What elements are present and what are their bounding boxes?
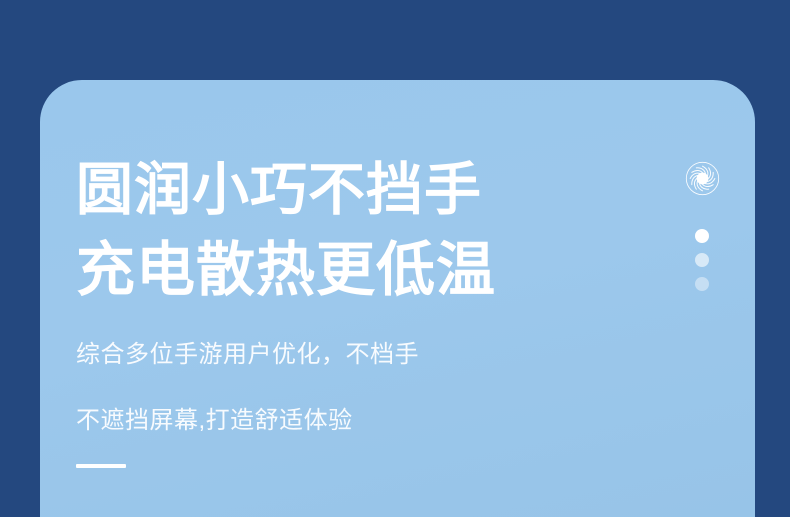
- subhead-line-2: 不遮挡屏幕,打造舒适体验: [76, 376, 596, 442]
- dot-stack[interactable]: [695, 229, 709, 291]
- headline-line-1: 圆润小巧不挡手: [76, 150, 596, 230]
- banner-stage: 圆润小巧不挡手 充电散热更低温 综合多位手游用户优化，不档手 不遮挡屏幕,打造舒…: [0, 0, 790, 517]
- divider-rule: [76, 464, 126, 468]
- feature-card: 圆润小巧不挡手 充电散热更低温 综合多位手游用户优化，不档手 不遮挡屏幕,打造舒…: [40, 80, 755, 517]
- headline-line-2: 充电散热更低温: [76, 230, 596, 310]
- cooling-fan-icon: [684, 160, 721, 197]
- copy-block: 圆润小巧不挡手 充电散热更低温 综合多位手游用户优化，不档手 不遮挡屏幕,打造舒…: [76, 150, 596, 468]
- dot-active[interactable]: [695, 229, 709, 243]
- dot-inactive-2[interactable]: [695, 277, 709, 291]
- indicator-rail: [683, 160, 721, 291]
- dot-inactive-1[interactable]: [695, 253, 709, 267]
- subhead-line-1: 综合多位手游用户优化，不档手: [76, 310, 596, 376]
